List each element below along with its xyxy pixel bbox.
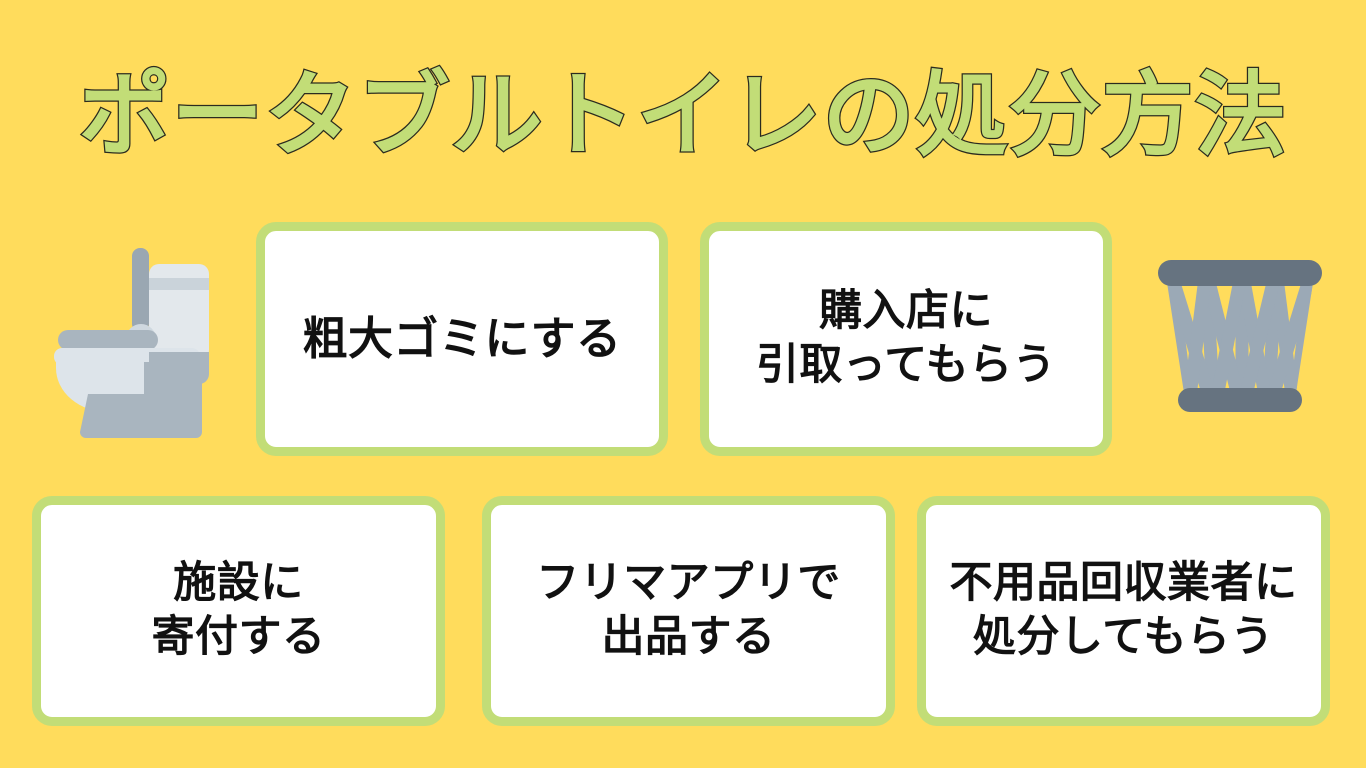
option-card-1[interactable]: 粗大ゴミにする (256, 222, 668, 456)
option-card-3-label: 施設に 寄付する (152, 557, 326, 665)
option-card-3[interactable]: 施設に 寄付する (32, 496, 445, 726)
option-card-5-label: 不用品回収業者に 処分してもらう (950, 557, 1298, 665)
option-card-4[interactable]: フリマアプリで 出品する (482, 496, 895, 726)
page-title: ポータブルトイレの処分方法 (0, 66, 1366, 166)
option-card-4-label: フリマアプリで 出品する (536, 557, 841, 665)
option-card-2[interactable]: 購入店に 引取ってもらう (700, 222, 1112, 456)
infographic-canvas: ポータブルトイレの処分方法 (0, 0, 1366, 768)
option-card-2-label: 購入店に 引取ってもらう (756, 285, 1056, 393)
toilet-icon (48, 244, 220, 440)
option-card-1-label: 粗大ゴミにする (303, 311, 622, 367)
trash-bin-icon (1152, 254, 1328, 426)
option-card-5[interactable]: 不用品回収業者に 処分してもらう (917, 496, 1330, 726)
